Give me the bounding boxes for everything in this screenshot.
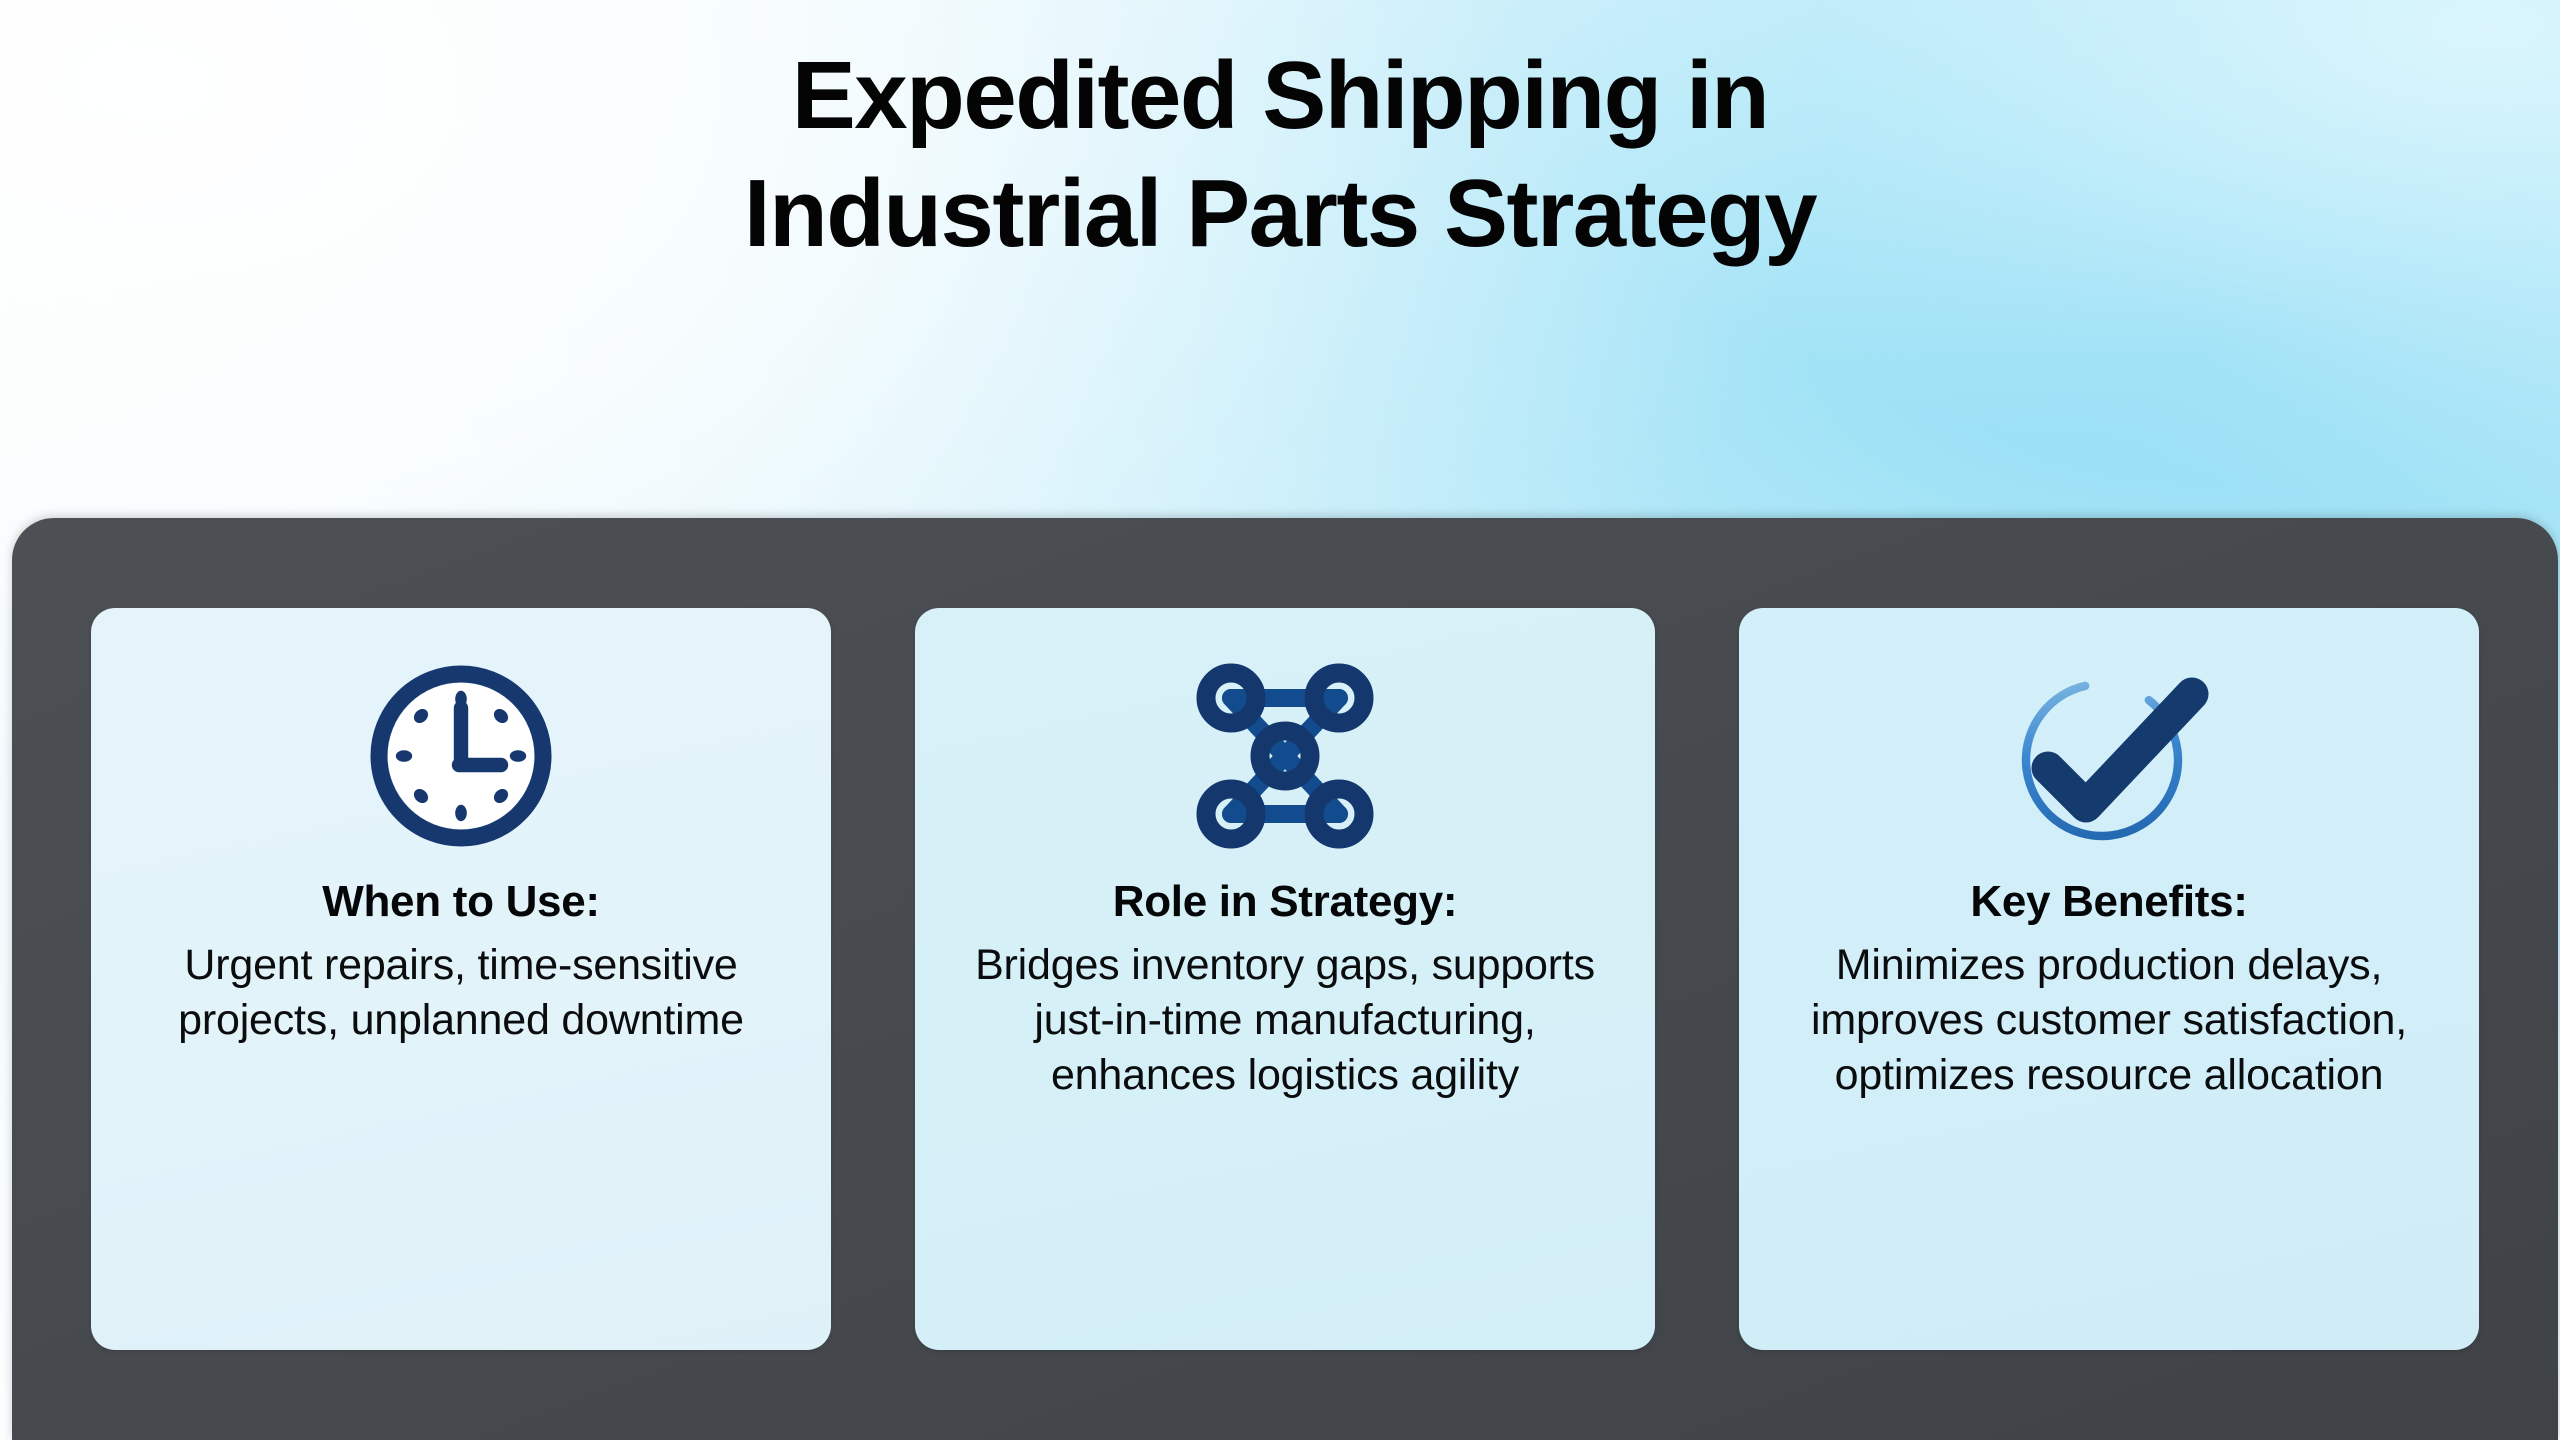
card-role-in-strategy[interactable]: Role in Strategy: Bridges inventory gaps… — [915, 608, 1655, 1350]
page-title-line-1: Expedited Shipping in — [0, 48, 2560, 144]
page-title-line-2: Industrial Parts Strategy — [0, 166, 2560, 262]
network-nodes-icon — [1185, 656, 1385, 856]
card-heading: When to Use: — [322, 878, 600, 926]
check-circle-icon — [2006, 656, 2212, 856]
clock-icon — [361, 656, 561, 856]
card-when-to-use[interactable]: When to Use: Urgent repairs, time-sensit… — [91, 608, 831, 1350]
card-body: Minimizes production delays, improves cu… — [1773, 938, 2445, 1103]
card-body: Bridges inventory gaps, supports just-in… — [965, 938, 1605, 1103]
card-key-benefits[interactable]: Key Benefits: Minimizes production delay… — [1739, 608, 2479, 1350]
card-row: When to Use: Urgent repairs, time-sensit… — [12, 608, 2558, 1350]
card-heading: Role in Strategy: — [1113, 878, 1458, 926]
card-body: Urgent repairs, time-sensitive projects,… — [141, 938, 781, 1048]
page-title: Expedited Shipping in Industrial Parts S… — [0, 48, 2560, 262]
card-heading: Key Benefits: — [1970, 878, 2247, 926]
infographic-canvas: Expedited Shipping in Industrial Parts S… — [0, 0, 2560, 1440]
